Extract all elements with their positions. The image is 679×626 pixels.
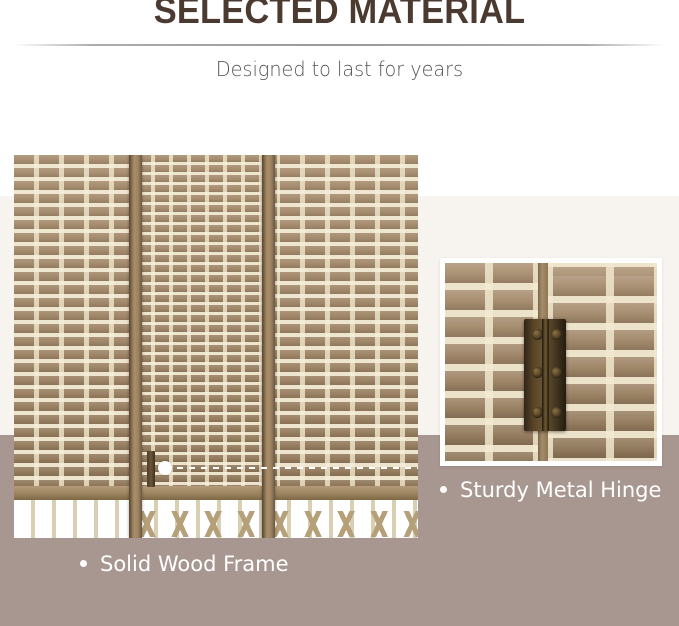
panel-dowels (14, 500, 137, 538)
rattan-weave-texture (270, 155, 418, 500)
hinge-closeup-photo (445, 263, 657, 461)
header: SELECTED MATERIAL Designed to last for y… (0, 0, 679, 100)
hinge-pin (542, 319, 549, 431)
hinge-screw (551, 367, 562, 378)
hinge-screw (551, 407, 562, 418)
divider-panel-center (137, 155, 270, 538)
wood-frame-post-right (262, 155, 275, 538)
panel-bottom-rail (137, 486, 270, 500)
caption-frame-label: Solid Wood Frame (100, 552, 289, 576)
main-product-photo (14, 155, 418, 538)
caption-solid-wood-frame: Solid Wood Frame (80, 552, 289, 576)
header-divider (14, 44, 665, 46)
caption-hinge-label: Sturdy Metal Hinge (460, 478, 661, 502)
hinge-on-photo (147, 451, 155, 487)
panel-lattice-trim (137, 511, 270, 537)
rattan-weave-texture (137, 155, 270, 500)
divider-panel-right (270, 155, 418, 538)
post-shadow-edge (129, 155, 133, 538)
callout-dashed-line (165, 467, 418, 469)
hinge-detail-card (440, 258, 662, 466)
panel-lattice-trim (270, 511, 418, 537)
rattan-weave-texture (14, 155, 137, 500)
hinge-screw (551, 329, 562, 340)
page-subtitle: Designed to last for years (14, 57, 666, 81)
post-shadow-edge (262, 155, 266, 538)
panel-bottom-rail (270, 486, 418, 500)
wood-frame-post-left (129, 155, 142, 538)
divider-panel-left (14, 155, 137, 538)
callout-marker-dot (158, 461, 172, 475)
page-title: SELECTED MATERIAL (24, 0, 655, 32)
caption-sturdy-metal-hinge: Sturdy Metal Hinge (440, 478, 661, 502)
bullet-icon (440, 486, 447, 493)
bullet-icon (80, 560, 87, 567)
panel-bottom-rail (14, 486, 137, 500)
